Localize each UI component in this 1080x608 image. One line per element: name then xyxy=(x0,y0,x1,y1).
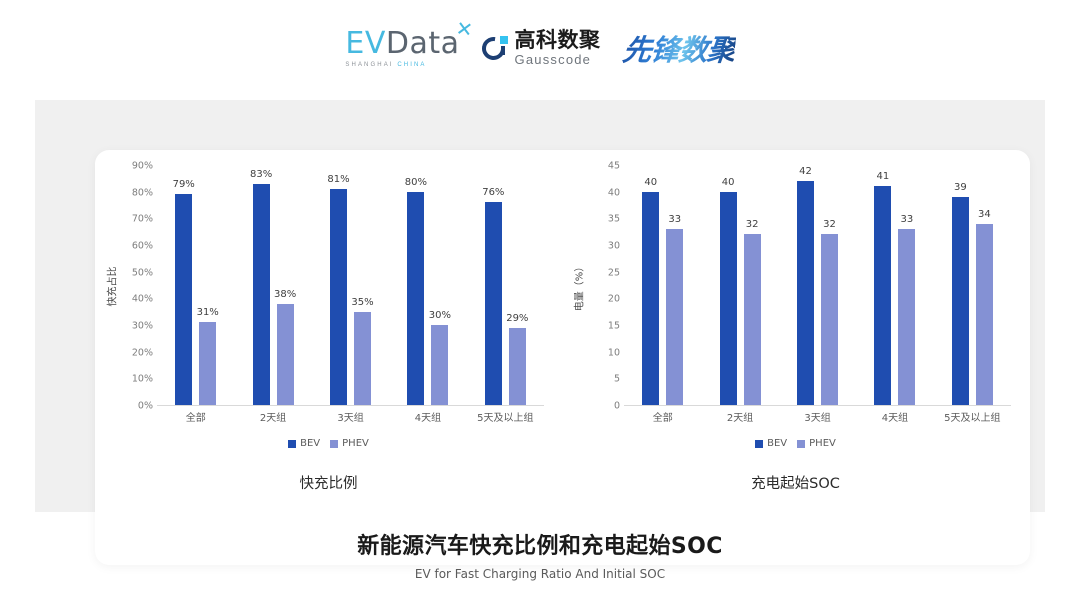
logo-bar: EVData ✕ SHANGHAI CHINA 高科数聚 Gausscode 先… xyxy=(0,20,1080,76)
evdata-data-text: Data xyxy=(386,26,460,61)
y-tick-label: 0 xyxy=(614,401,620,412)
legend-right: BEV PHEV xyxy=(562,438,1029,449)
bar-phev[interactable]: 32 xyxy=(744,234,761,405)
y-tick-label: 45 xyxy=(608,161,620,172)
y-tick-label: 20 xyxy=(608,294,620,305)
x-tick-label: 2天组 xyxy=(701,409,778,424)
bar-phev[interactable]: 33 xyxy=(898,229,915,405)
bar-group: 79%31% xyxy=(157,166,234,405)
bar-value-label: 80% xyxy=(405,177,427,188)
charts-container: 快充占比 90%80%70%60%50%40%30%20%10%0% 79%31… xyxy=(95,150,1030,565)
x-tick-label: 3天组 xyxy=(779,409,856,424)
chart-panel: 快充占比 90%80%70%60%50%40%30%20%10%0% 79%31… xyxy=(35,100,1045,512)
y-tick-label: 10% xyxy=(132,374,153,385)
bar-phev[interactable]: 32 xyxy=(821,234,838,405)
y-axis-ticks-left: 90%80%70%60%50%40%30%20%10%0% xyxy=(117,166,153,406)
y-tick-label: 15 xyxy=(608,321,620,332)
bar-value-label: 33 xyxy=(668,214,681,225)
bar-bev[interactable]: 80% xyxy=(407,192,424,405)
bar-value-label: 33 xyxy=(901,214,914,225)
bar-value-label: 38% xyxy=(274,289,296,300)
gausscode-cn-text: 高科数聚 xyxy=(515,30,601,51)
bar-bev[interactable]: 81% xyxy=(330,189,347,405)
y-tick-label: 30% xyxy=(132,321,153,332)
bar-group: 4033 xyxy=(624,166,701,405)
bar-value-label: 29% xyxy=(506,313,528,324)
bar-value-label: 32 xyxy=(746,219,759,230)
chart-fast-charging-ratio: 快充占比 90%80%70%60%50%40%30%20%10%0% 79%31… xyxy=(95,150,562,565)
bar-phev[interactable]: 35% xyxy=(354,312,371,405)
bar-phev[interactable]: 29% xyxy=(509,328,526,405)
x-axis-labels-left: 全部2天组3天组4天组5天及以上组 xyxy=(157,409,544,424)
x-axis-labels-right: 全部2天组3天组4天组5天及以上组 xyxy=(624,409,1011,424)
chart-card: 快充占比 90%80%70%60%50%40%30%20%10%0% 79%31… xyxy=(95,150,1030,565)
y-tick-label: 40% xyxy=(132,294,153,305)
bar-value-label: 79% xyxy=(173,179,195,190)
legend-label-phev: PHEV xyxy=(342,438,369,449)
bar-group: 4232 xyxy=(779,166,856,405)
bar-phev[interactable]: 34 xyxy=(976,224,993,405)
legend-item-bev[interactable]: BEV xyxy=(288,438,320,449)
legend-swatch-bev xyxy=(755,440,763,448)
evdata-ev-text: EV xyxy=(345,26,385,61)
bar-group: 3934 xyxy=(934,166,1011,405)
plot-area-right: 40334032423241333934 xyxy=(624,166,1011,406)
plot-area-left: 79%31%83%38%81%35%80%30%76%29% xyxy=(157,166,544,406)
y-tick-label: 0% xyxy=(138,401,153,412)
y-tick-label: 5 xyxy=(614,374,620,385)
gausscode-logo: 高科数聚 Gausscode xyxy=(482,30,601,66)
footer-title: 新能源汽车快充比例和充电起始SOC xyxy=(0,528,1080,560)
bar-group: 83%38% xyxy=(234,166,311,405)
y-tick-label: 50% xyxy=(132,267,153,278)
bar-value-label: 40 xyxy=(722,177,735,188)
bar-bev[interactable]: 40 xyxy=(642,192,659,405)
y-tick-label: 90% xyxy=(132,161,153,172)
footer: 新能源汽车快充比例和充电起始SOC EV for Fast Charging R… xyxy=(0,528,1080,581)
y-axis-ticks-right: 454035302520151050 xyxy=(584,166,620,406)
legend-swatch-bev xyxy=(288,440,296,448)
bar-phev[interactable]: 31% xyxy=(199,322,216,405)
bar-bev[interactable]: 76% xyxy=(485,202,502,405)
y-tick-label: 25 xyxy=(608,267,620,278)
legend-item-phev[interactable]: PHEV xyxy=(330,438,369,449)
y-tick-label: 70% xyxy=(132,214,153,225)
bar-value-label: 30% xyxy=(429,310,451,321)
bar-value-label: 83% xyxy=(250,169,272,180)
slide-page: EVData ✕ SHANGHAI CHINA 高科数聚 Gausscode 先… xyxy=(0,0,1080,608)
evdata-tagline: SHANGHAI CHINA xyxy=(345,62,426,68)
legend-label-bev: BEV xyxy=(767,438,787,449)
bar-group: 76%29% xyxy=(467,166,544,405)
y-tick-label: 40 xyxy=(608,187,620,198)
legend-item-bev[interactable]: BEV xyxy=(755,438,787,449)
bar-value-label: 76% xyxy=(482,187,504,198)
bar-bev[interactable]: 41 xyxy=(874,186,891,405)
bar-phev[interactable]: 38% xyxy=(277,304,294,405)
bar-value-label: 34 xyxy=(978,209,991,220)
chart-title-right: 充电起始SOC xyxy=(562,472,1029,493)
x-tick-label: 3天组 xyxy=(312,409,389,424)
bar-value-label: 42 xyxy=(799,166,812,177)
y-tick-label: 35 xyxy=(608,214,620,225)
x-tick-label: 全部 xyxy=(157,409,234,424)
bar-value-label: 35% xyxy=(351,297,373,308)
bar-bev[interactable]: 40 xyxy=(720,192,737,405)
evdata-tagline-city: SHANGHAI xyxy=(345,62,397,68)
bar-value-label: 41 xyxy=(877,171,890,182)
bar-bev[interactable]: 79% xyxy=(175,194,192,405)
y-tick-label: 60% xyxy=(132,241,153,252)
x-tick-label: 2天组 xyxy=(234,409,311,424)
legend-swatch-phev xyxy=(797,440,805,448)
legend-label-phev: PHEV xyxy=(809,438,836,449)
bar-group: 80%30% xyxy=(389,166,466,405)
x-tick-label: 4天组 xyxy=(389,409,466,424)
evdata-tagline-country: CHINA xyxy=(397,62,426,68)
y-tick-label: 10 xyxy=(608,347,620,358)
bar-phev[interactable]: 30% xyxy=(431,325,448,405)
xianfeng-logo: 先锋数聚 xyxy=(620,27,736,69)
chart-title-left: 快充比例 xyxy=(95,472,562,493)
bar-group: 4032 xyxy=(701,166,778,405)
x-tick-label: 全部 xyxy=(624,409,701,424)
bar-value-label: 40 xyxy=(644,177,657,188)
legend-label-bev: BEV xyxy=(300,438,320,449)
chart-initial-soc: 电量（%） 454035302520151050 403340324232413… xyxy=(562,150,1029,565)
legend-swatch-phev xyxy=(330,440,338,448)
bar-value-label: 32 xyxy=(823,219,836,230)
bar-group: 81%35% xyxy=(312,166,389,405)
y-tick-label: 30 xyxy=(608,241,620,252)
bar-phev[interactable]: 33 xyxy=(666,229,683,405)
bar-bev[interactable]: 39 xyxy=(952,197,969,405)
bar-value-label: 81% xyxy=(327,174,349,185)
gausscode-mark-icon xyxy=(482,35,508,61)
x-tick-label: 5天及以上组 xyxy=(467,409,544,424)
evdata-wordmark: EVData ✕ xyxy=(345,29,459,59)
bar-bev[interactable]: 42 xyxy=(797,181,814,405)
evdata-cross-icon: ✕ xyxy=(455,17,475,39)
evdata-logo: EVData ✕ SHANGHAI CHINA xyxy=(345,29,459,68)
x-tick-label: 5天及以上组 xyxy=(934,409,1011,424)
legend-item-phev[interactable]: PHEV xyxy=(797,438,836,449)
footer-subtitle: EV for Fast Charging Ratio And Initial S… xyxy=(0,567,1080,581)
bar-value-label: 39 xyxy=(954,182,967,193)
gausscode-en-text: Gausscode xyxy=(515,53,601,66)
bar-value-label: 31% xyxy=(197,307,219,318)
y-tick-label: 80% xyxy=(132,187,153,198)
bar-bev[interactable]: 83% xyxy=(253,184,270,405)
y-tick-label: 20% xyxy=(132,347,153,358)
bar-group: 4133 xyxy=(856,166,933,405)
legend-left: BEV PHEV xyxy=(95,438,562,449)
x-tick-label: 4天组 xyxy=(856,409,933,424)
